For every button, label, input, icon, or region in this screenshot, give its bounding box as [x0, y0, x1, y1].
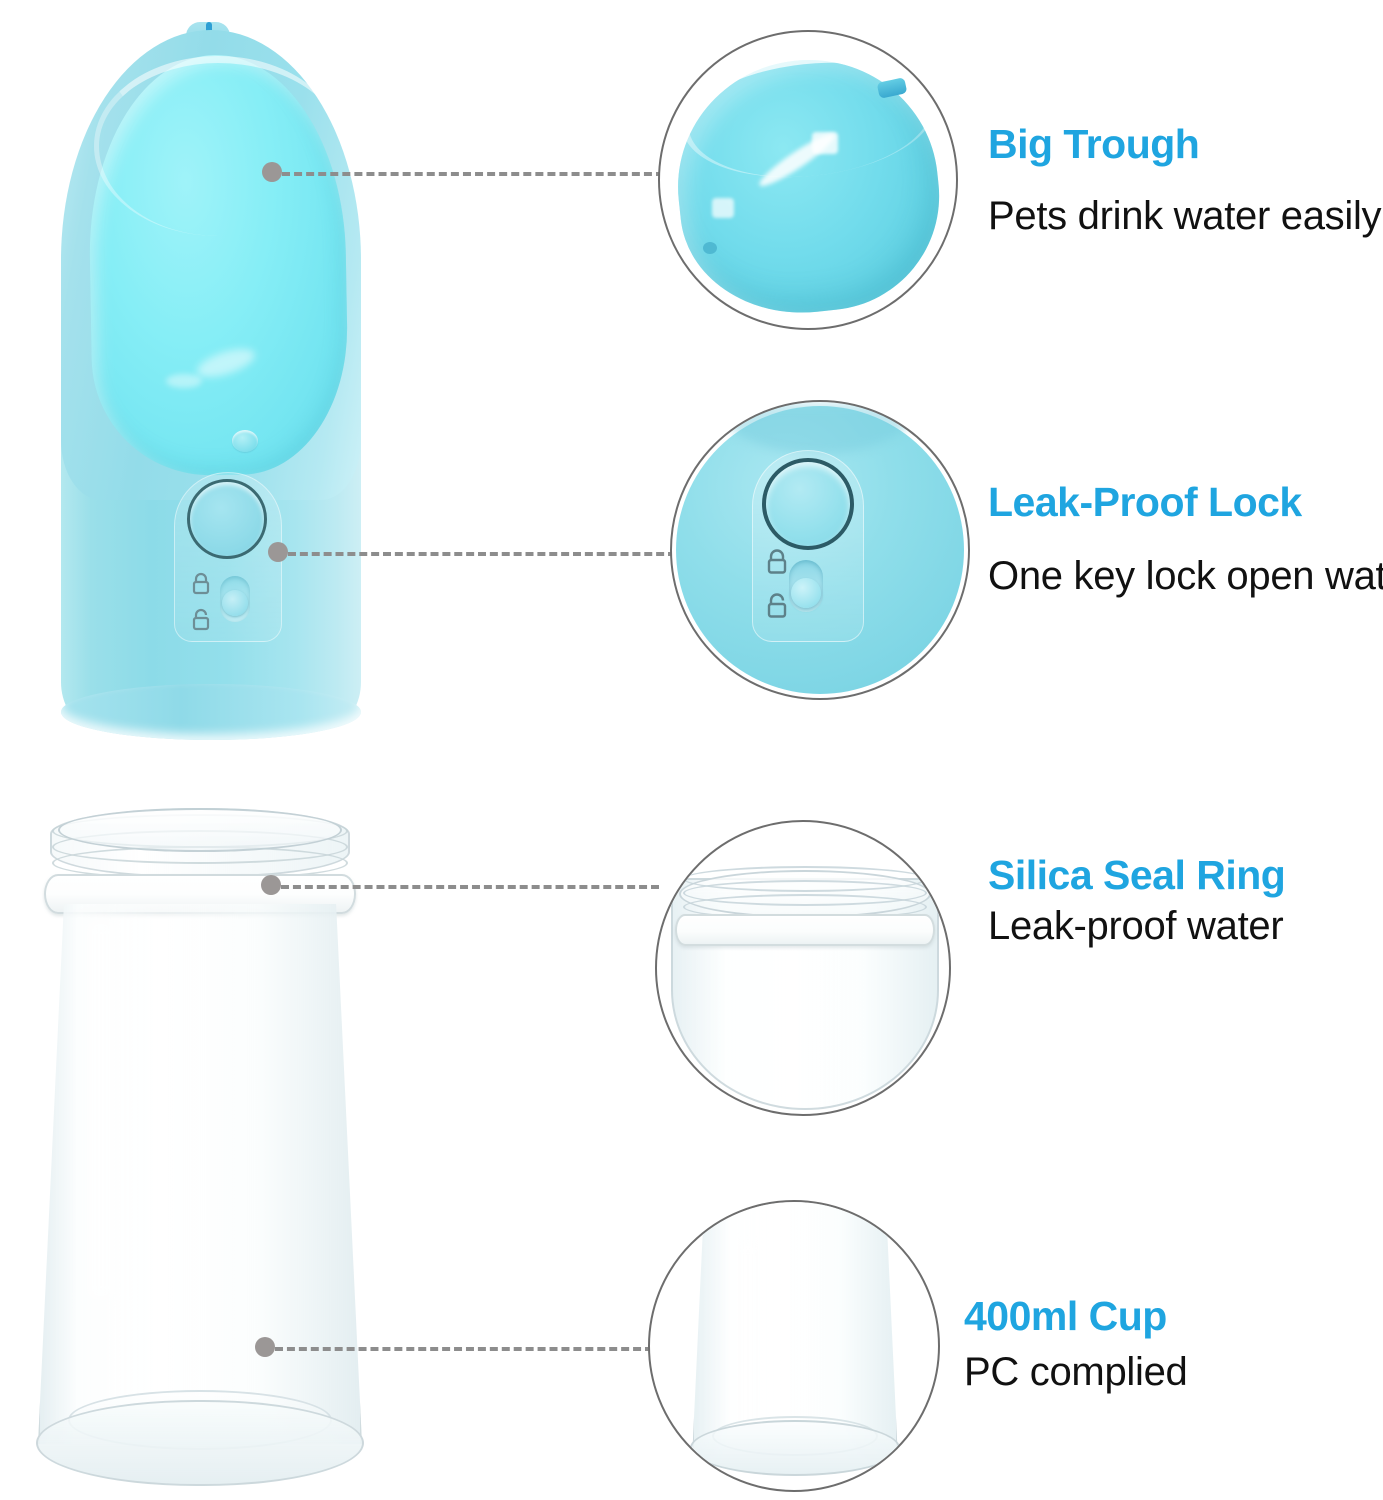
cup-detail-base	[690, 1420, 900, 1476]
bottle-mouth-opening	[58, 808, 342, 852]
pet-water-bottle-top-unit	[46, 22, 376, 722]
big-trough-dot	[262, 162, 282, 182]
leak-proof-lock-dot	[268, 542, 288, 562]
cup-detail	[648, 1200, 940, 1492]
cup-title: 400ml Cup	[964, 1296, 1167, 1337]
cup-subtitle: PC complied	[964, 1352, 1187, 1392]
silica-seal-ring-title: Silica Seal Ring	[988, 855, 1285, 896]
water-release-button-icon[interactable]	[762, 458, 854, 550]
lock-slider-icon[interactable]	[791, 578, 821, 608]
silica-seal-ring-subtitle: Leak-proof water	[988, 906, 1283, 946]
bottle-base	[36, 1400, 364, 1486]
lock-detail	[670, 400, 970, 700]
lock-open-icon	[764, 592, 790, 620]
trough-detail-highlight-2	[712, 198, 734, 218]
big-trough-leader-line	[282, 172, 664, 176]
leak-proof-lock-subtitle: One key lock open water	[988, 556, 1383, 596]
bottle-lower-rim	[61, 684, 361, 740]
trough-detail	[658, 30, 958, 330]
cup-detail-highlight	[734, 1242, 762, 1432]
cup-leader-line	[275, 1347, 653, 1351]
lock-closed-icon	[764, 548, 790, 576]
cup-dot	[255, 1337, 275, 1357]
bottle-body-highlight	[78, 920, 124, 1300]
trough-detail-nub	[703, 242, 717, 254]
leak-proof-lock-title: Leak-Proof Lock	[988, 482, 1302, 523]
trough-gloss-spot	[166, 374, 202, 388]
water-release-button-icon[interactable]	[187, 479, 267, 559]
trough-detail-highlight-1	[812, 132, 838, 154]
clear-water-bottle-cup	[8, 800, 388, 1490]
trough-drain-dimple	[232, 430, 258, 452]
lock-slider-icon[interactable]	[222, 590, 248, 616]
seal-ring-detail	[655, 820, 951, 1116]
silica-seal-ring-leader-line	[281, 885, 659, 889]
big-trough-subtitle: Pets drink water easily	[988, 196, 1381, 236]
leak-proof-lock-panel	[174, 472, 282, 642]
silica-seal-ring-dot	[261, 875, 281, 895]
leak-proof-lock-leader-line	[288, 552, 676, 556]
infographic-canvas: Big Trough Pets drink water easily Leak-…	[0, 0, 1383, 1500]
lock-open-icon	[190, 608, 212, 632]
silica-seal-ring	[675, 914, 935, 946]
big-trough-title: Big Trough	[988, 124, 1199, 165]
lock-closed-icon	[190, 572, 212, 596]
